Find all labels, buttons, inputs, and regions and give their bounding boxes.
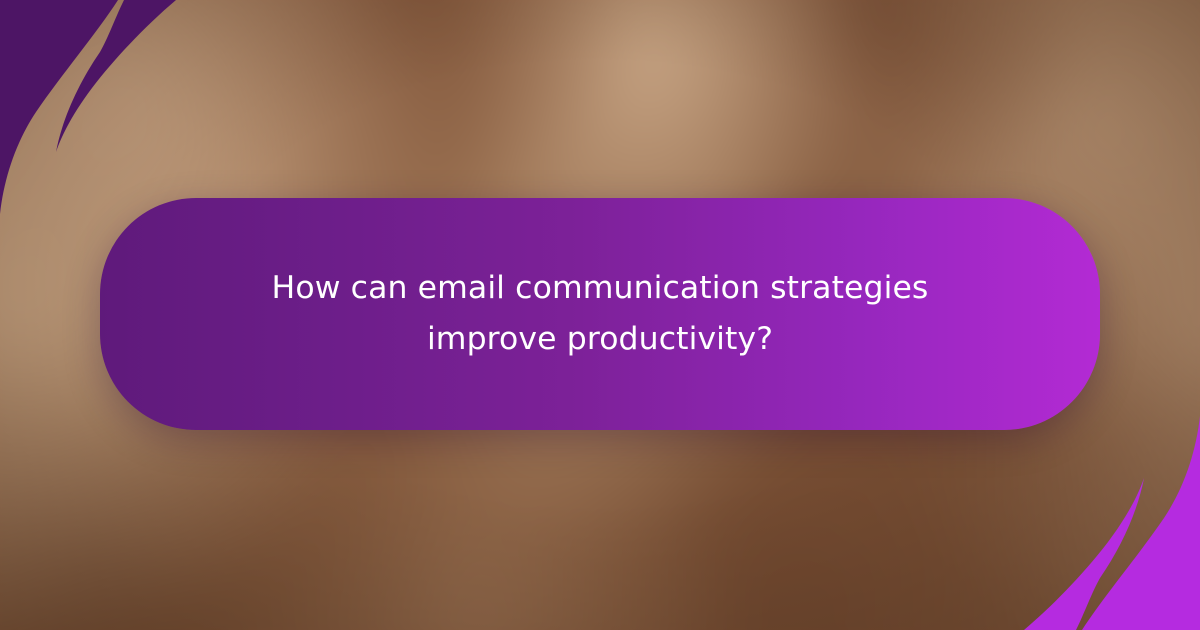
question-card-graphic: How can email communication strategies i… <box>0 0 1200 630</box>
question-card: How can email communication strategies i… <box>100 198 1100 430</box>
question-text: How can email communication strategies i… <box>240 263 960 366</box>
